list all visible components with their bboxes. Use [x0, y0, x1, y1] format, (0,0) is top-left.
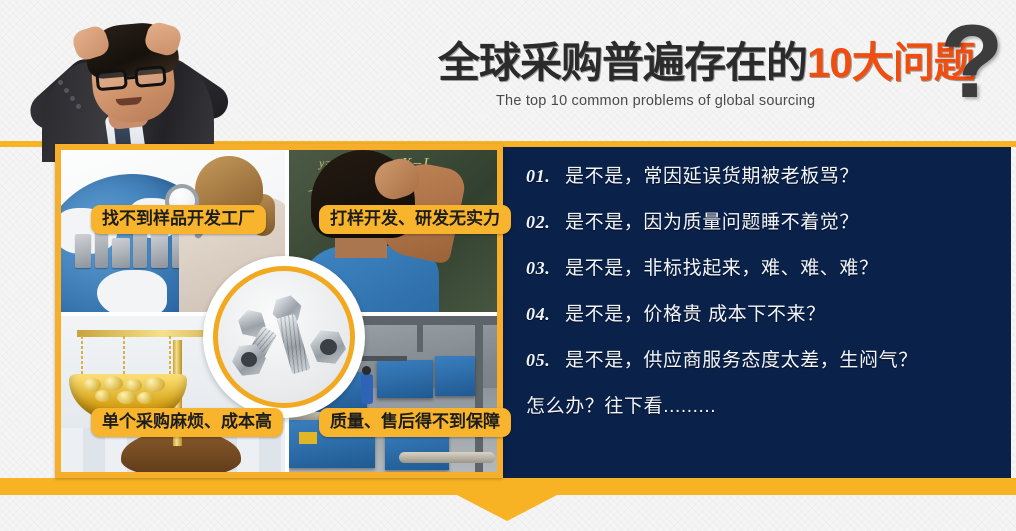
- problem-text: 是不是，常因延误货期被老板骂？: [565, 161, 859, 188]
- closing-call-to-action: 怎么办？往下看.........: [526, 391, 1001, 418]
- problem-text: 是不是，供应商服务态度太差，生闷气？: [565, 345, 918, 372]
- problem-item-01: 01. 是不是，常因延误货期被老板骂？: [526, 161, 1001, 188]
- header-banner: 全球采购普遍存在的10大问题 The top 10 common problem…: [0, 0, 1016, 144]
- badge-quality: 质量、售后得不到保障: [319, 408, 511, 437]
- badge-sample-factory: 找不到样品开发工厂: [91, 205, 266, 234]
- problem-text: 是不是，因为质量问题睡不着觉？: [565, 207, 859, 234]
- problem-number: 05.: [526, 350, 556, 371]
- chevron-down-icon: [455, 494, 559, 521]
- badge-rnd-weak: 打样开发、研发无实力: [319, 205, 511, 234]
- title-plain-part: 全球采购普遍存在的: [438, 39, 807, 86]
- title-block: 全球采购普遍存在的10大问题 The top 10 common problem…: [438, 42, 958, 138]
- problem-item-02: 02. 是不是，因为质量问题睡不着觉？: [526, 207, 1001, 234]
- center-product-badge: [203, 256, 365, 418]
- problem-text: 是不是，价格贵 成本下不来？: [565, 299, 826, 326]
- badge-single-buy: 单个采购麻烦、成本高: [91, 408, 283, 437]
- scroll-down-arrow: [0, 494, 1016, 531]
- problem-item-04: 04. 是不是，价格贵 成本下不来？: [526, 299, 1001, 326]
- problem-number: 03.: [526, 258, 556, 279]
- problem-number: 01.: [526, 166, 556, 187]
- problem-list: 01. 是不是，常因延误货期被老板骂？ 02. 是不是，因为质量问题睡不着觉？ …: [526, 161, 1001, 418]
- problem-number: 04.: [526, 304, 556, 325]
- problems-panel: 01. 是不是，常因延误货期被老板骂？ 02. 是不是，因为质量问题睡不着觉？ …: [503, 147, 1011, 478]
- page-title: 全球采购普遍存在的10大问题: [438, 42, 958, 84]
- problem-text: 是不是，非标找起来，难、难、难？: [565, 253, 879, 280]
- bottom-accent-bar: [0, 478, 1016, 495]
- question-mark-icon: ?: [940, 20, 1004, 105]
- problem-item-03: 03. 是不是，非标找起来，难、难、难？: [526, 253, 1001, 280]
- problem-item-05: 05. 是不是，供应商服务态度太差，生闷气？: [526, 345, 1001, 372]
- problem-number: 02.: [526, 212, 556, 233]
- page-subtitle: The top 10 common problems of global sou…: [496, 93, 958, 109]
- frustrated-businessman-photo: [12, 2, 242, 162]
- center-product-ring: [213, 266, 355, 408]
